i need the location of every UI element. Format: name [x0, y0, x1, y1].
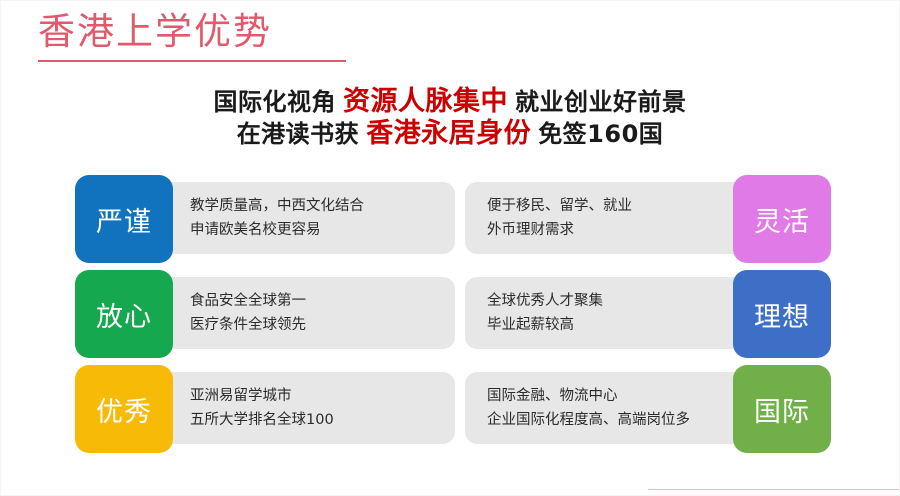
panel-line: 外币理财需求	[487, 218, 632, 242]
advantage-panel-left: 食品安全全球第一 医疗条件全球领先	[150, 277, 455, 349]
panel-line: 亚洲易留学城市	[190, 384, 334, 408]
slide-canvas: 香港上学优势 国际化视角资源人脉集中就业创业好前景 在港读书获香港永居身份免签1…	[0, 0, 900, 496]
advantage-panel-right: 全球优秀人才聚集 毕业起薪较高	[465, 277, 760, 349]
panel-line: 企业国际化程度高、高端岗位多	[487, 408, 690, 432]
advantage-rows: 教学质量高，中西文化结合 申请欧美名校更容易 便于移民、留学、就业 外币理财需求…	[0, 170, 900, 455]
advantage-row: 食品安全全球第一 医疗条件全球领先 全球优秀人才聚集 毕业起薪较高 放心 理想	[0, 265, 900, 360]
advantage-badge-label: 国际	[754, 390, 810, 429]
advantage-row: 亚洲易留学城市 五所大学排名全球100 国际金融、物流中心 企业国际化程度高、高…	[0, 360, 900, 455]
panel-line: 教学质量高，中西文化结合	[190, 194, 364, 218]
bottom-divider-rule	[648, 489, 900, 490]
panel-line: 国际金融、物流中心	[487, 384, 690, 408]
subtitle-line-1: 国际化视角资源人脉集中就业创业好前景	[0, 86, 900, 118]
advantage-row: 教学质量高，中西文化结合 申请欧美名校更容易 便于移民、留学、就业 外币理财需求…	[0, 170, 900, 265]
advantage-panel-left: 教学质量高，中西文化结合 申请欧美名校更容易	[150, 182, 455, 254]
panel-line: 便于移民、留学、就业	[487, 194, 632, 218]
panel-line: 医疗条件全球领先	[190, 313, 306, 337]
advantage-badge-label: 严谨	[96, 200, 152, 239]
panel-line: 食品安全全球第一	[190, 289, 306, 313]
advantage-badge-right[interactable]: 灵活	[733, 175, 831, 263]
advantage-panel-right: 便于移民、留学、就业 外币理财需求	[465, 182, 760, 254]
title-underline-rule	[38, 60, 346, 62]
subtitle-line-2: 在港读书获香港永居身份免签160国	[0, 118, 900, 150]
advantage-badge-right[interactable]: 理想	[733, 270, 831, 358]
advantage-badge-label: 理想	[754, 295, 810, 334]
advantage-badge-label: 放心	[96, 295, 152, 334]
advantage-badge-label: 优秀	[96, 390, 152, 429]
advantage-panel-left-text: 亚洲易留学城市 五所大学排名全球100	[190, 384, 334, 432]
advantage-panel-right-text: 国际金融、物流中心 企业国际化程度高、高端岗位多	[487, 384, 690, 432]
advantage-panel-left-text: 食品安全全球第一 医疗条件全球领先	[190, 289, 306, 337]
advantage-badge-left[interactable]: 严谨	[75, 175, 173, 263]
subtitle-block: 国际化视角资源人脉集中就业创业好前景 在港读书获香港永居身份免签160国	[0, 86, 900, 150]
advantage-panel-left: 亚洲易留学城市 五所大学排名全球100	[150, 372, 455, 444]
advantage-badge-label: 灵活	[754, 200, 810, 239]
subtitle-line-1-segment-1: 国际化视角	[214, 88, 337, 116]
subtitle-line-1-segment-2: 就业创业好前景	[515, 88, 687, 116]
advantage-panel-right-text: 全球优秀人才聚集 毕业起薪较高	[487, 289, 603, 337]
subtitle-line-2-highlight: 香港永居身份	[366, 118, 531, 149]
advantage-badge-left[interactable]: 放心	[75, 270, 173, 358]
subtitle-line-2-segment-2: 免签160国	[538, 120, 663, 148]
advantage-badge-right[interactable]: 国际	[733, 365, 831, 453]
slide-header: 香港上学优势	[38, 8, 358, 62]
panel-line: 申请欧美名校更容易	[190, 218, 364, 242]
subtitle-line-1-highlight: 资源人脉集中	[343, 86, 508, 117]
panel-line: 毕业起薪较高	[487, 313, 603, 337]
advantage-panel-left-text: 教学质量高，中西文化结合 申请欧美名校更容易	[190, 194, 364, 242]
page-title: 香港上学优势	[38, 8, 358, 56]
advantage-panel-right-text: 便于移民、留学、就业 外币理财需求	[487, 194, 632, 242]
advantage-panel-right: 国际金融、物流中心 企业国际化程度高、高端岗位多	[465, 372, 760, 444]
panel-line: 全球优秀人才聚集	[487, 289, 603, 313]
advantage-badge-left[interactable]: 优秀	[75, 365, 173, 453]
panel-line: 五所大学排名全球100	[190, 408, 334, 432]
subtitle-line-2-segment-1: 在港读书获	[237, 120, 360, 148]
